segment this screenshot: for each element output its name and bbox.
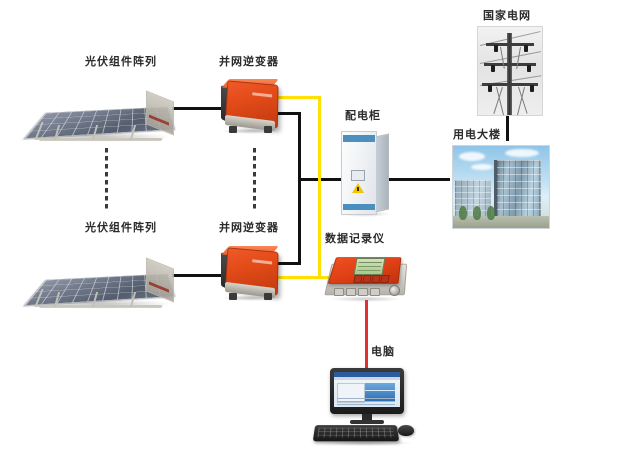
logger-port — [370, 288, 380, 296]
cabinet-side-panel — [375, 134, 389, 213]
monitor-screen — [334, 372, 400, 407]
pylon-insulator — [524, 45, 528, 52]
label-pv-array-bottom: 光伏组件阵列 — [85, 222, 157, 233]
state-grid-pylon-photo — [477, 26, 543, 116]
inverter-foot — [229, 293, 237, 300]
label-computer: 电脑 — [371, 346, 395, 357]
logger-shadow — [330, 296, 402, 302]
screen-toolbar — [334, 377, 400, 380]
inverter-continuation-dots — [253, 148, 256, 212]
tree — [473, 206, 481, 220]
data-line-vertical-main — [318, 96, 321, 278]
wire-cabinet-to-building — [388, 178, 450, 181]
label-inverter-top: 并网逆变器 — [219, 56, 279, 67]
inverter-top[interactable] — [220, 78, 282, 134]
logger-button[interactable] — [380, 275, 389, 283]
logger-connector — [389, 285, 400, 296]
keyboard[interactable] — [313, 425, 399, 441]
inverter-foot — [264, 126, 272, 133]
logger-button[interactable] — [371, 275, 380, 283]
diagram-canvas: 光伏组件阵列 并网逆变器 光伏组件阵列 并网逆变器 配电柜 国家电网 用电大楼 … — [0, 0, 640, 450]
inverter-foot — [264, 293, 272, 300]
computer[interactable] — [314, 368, 418, 446]
pylon-insulator — [494, 45, 498, 52]
cloud — [471, 164, 493, 170]
array-continuation-dots — [105, 148, 108, 212]
pylon-insulator — [491, 65, 495, 72]
monitor — [330, 368, 404, 414]
inverter-bottom[interactable] — [220, 245, 282, 301]
screen-text-lines — [337, 404, 395, 405]
screen-panel — [337, 383, 365, 403]
pylon-insulator — [530, 85, 534, 92]
office-building-photo — [452, 145, 550, 229]
wire-bus-vertical-top — [298, 112, 301, 180]
label-data-logger: 数据记录仪 — [325, 233, 385, 244]
cabinet-bottom-trim — [343, 204, 375, 210]
cloud — [459, 152, 485, 161]
logger-port — [334, 288, 344, 296]
solar-array-top[interactable] — [26, 82, 176, 144]
warning-triangle-icon — [352, 183, 364, 193]
wire-bus-vertical-bottom — [298, 178, 301, 265]
wire-grid-to-building — [506, 113, 509, 141]
solar-array-bottom[interactable] — [26, 249, 176, 311]
array-junction-strip — [149, 282, 169, 293]
logger-port — [346, 288, 356, 296]
mouse[interactable] — [398, 425, 414, 436]
label-distribution-cabinet: 配电柜 — [345, 110, 381, 121]
cabinet-meter — [351, 170, 365, 181]
data-logger[interactable] — [328, 252, 406, 304]
screen-chart — [365, 383, 395, 401]
cabinet-front-panel — [341, 131, 377, 215]
label-state-grid: 国家电网 — [483, 10, 531, 21]
building-main-tower — [494, 160, 541, 224]
logger-port — [358, 288, 368, 296]
label-pv-array-top: 光伏组件阵列 — [85, 56, 157, 67]
cabinet-top-trim — [343, 135, 375, 142]
building-ground — [453, 216, 549, 228]
logger-lcd-display — [354, 258, 386, 275]
tree — [459, 206, 467, 220]
label-office-building: 用电大楼 — [453, 129, 501, 140]
distribution-cabinet[interactable] — [341, 131, 389, 213]
logger-button[interactable] — [362, 275, 371, 283]
pylon-insulator — [488, 85, 492, 92]
logger-button[interactable] — [353, 275, 362, 283]
serial-line-logger-to-computer — [365, 300, 368, 372]
tree — [487, 206, 495, 220]
array-junction-strip — [149, 115, 169, 126]
cloud — [505, 149, 539, 157]
monitor-stand — [350, 420, 384, 424]
label-inverter-bottom: 并网逆变器 — [219, 222, 279, 233]
pylon-insulator — [527, 65, 531, 72]
inverter-foot — [229, 126, 237, 133]
